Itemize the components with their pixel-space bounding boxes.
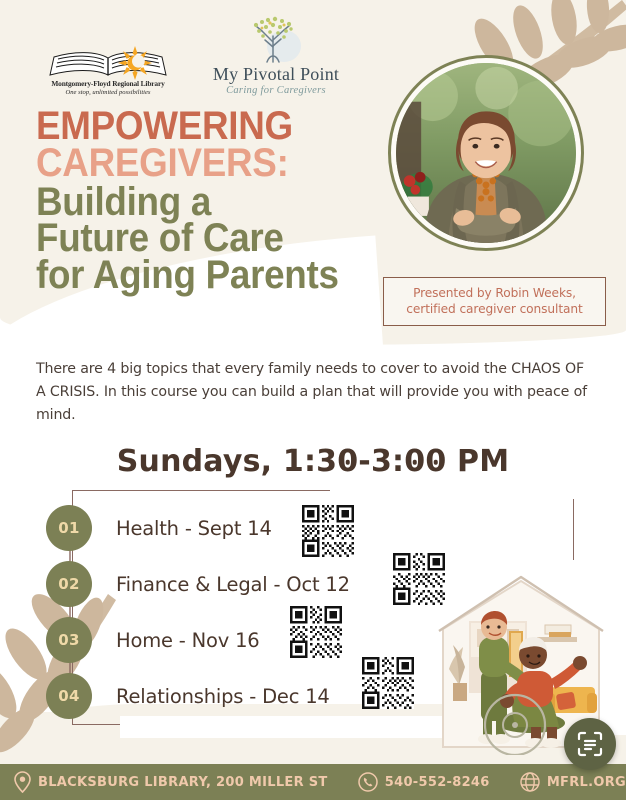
qr-session-04[interactable] — [362, 657, 414, 709]
scan-text-icon — [576, 730, 604, 758]
session-label-3: Home - Nov 16 — [116, 629, 260, 652]
scan-fab-button[interactable] — [564, 718, 616, 770]
footer-bar: BLACKSBURG LIBRARY, 200 MILLER ST 540-55… — [0, 764, 626, 800]
frame-mask-top — [330, 483, 580, 499]
schedule-heading-suffix: PM — [446, 444, 509, 479]
poster-canvas: Montgomery-Floyd Regional Library One st… — [0, 0, 626, 800]
headline-line-4: Future of Care — [36, 220, 349, 257]
session-badge-1: 01 — [46, 505, 92, 551]
map-pin-icon — [14, 771, 31, 793]
footer-location[interactable]: BLACKSBURG LIBRARY, 200 MILLER ST — [14, 771, 328, 793]
tree-icon — [240, 16, 312, 64]
logo-row: Montgomery-Floyd Regional Library One st… — [0, 16, 390, 96]
session-label-4: Relationships - Dec 14 — [116, 685, 330, 708]
schedule-heading-mid: -3: — [358, 444, 404, 479]
presenter-credit-box: Presented by Robin Weeks, certified care… — [383, 277, 606, 326]
session-number-3: 03 — [58, 631, 79, 649]
sun-icon — [118, 46, 152, 80]
footer-phone[interactable]: 540-552-8246 — [358, 772, 490, 792]
library-tagline: One stop, unlimited possibilities — [44, 89, 172, 96]
footer-location-text: BLACKSBURG LIBRARY, 200 MILLER ST — [38, 775, 328, 790]
session-badge-3: 03 — [46, 617, 92, 663]
presenter-portrait-frame — [388, 55, 584, 251]
globe-icon — [520, 772, 540, 792]
session-number-1: 01 — [58, 519, 79, 537]
phone-icon — [358, 772, 378, 792]
session-number-2: 02 — [58, 575, 79, 593]
description-text: There are 4 big topics that every family… — [36, 358, 596, 427]
schedule-zero-2: 0 — [404, 444, 425, 479]
session-label-2: Finance & Legal - Oct 12 — [116, 573, 350, 596]
session-label-1: Health - Sept 14 — [116, 517, 272, 540]
headline-line-3: Building a — [36, 184, 349, 221]
presenter-portrait — [396, 63, 576, 243]
session-row-1[interactable]: 01 Health - Sept 14 — [46, 500, 446, 556]
pivotal-point-logo: My Pivotal Point Caring for Caregivers — [206, 16, 346, 96]
presenter-line-2: certified caregiver consultant — [392, 301, 597, 317]
schedule-zero-3: 0 — [425, 444, 446, 479]
headline-line-5: for Aging Parents — [36, 257, 349, 294]
headline-line-2: CAREGIVERS: — [36, 145, 349, 182]
page-title: EMPOWERING CAREGIVERS: Building a Future… — [36, 108, 376, 294]
footer-website-text: MFRL.ORG — [547, 775, 626, 790]
presenter-line-1: Presented by Robin Weeks, — [392, 285, 597, 301]
session-badge-2: 02 — [46, 561, 92, 607]
pivotal-point-tagline: Caring for Caregivers — [206, 85, 346, 96]
session-number-4: 04 — [58, 687, 79, 705]
footer-website[interactable]: MFRL.ORG — [520, 772, 626, 792]
qr-session-03[interactable] — [290, 606, 342, 658]
library-logo: Montgomery-Floyd Regional Library One st… — [44, 50, 172, 96]
session-badge-4: 04 — [46, 673, 92, 719]
headline-line-1: EMPOWERING — [36, 108, 349, 145]
footer-phone-text: 540-552-8246 — [385, 775, 490, 790]
portrait-illustration — [396, 63, 576, 243]
pivotal-point-name: My Pivotal Point — [206, 65, 346, 84]
qr-session-01[interactable] — [302, 505, 354, 557]
session-row-2[interactable]: 02 Finance & Legal - Oct 12 — [46, 556, 446, 612]
library-name: Montgomery-Floyd Regional Library — [44, 79, 172, 88]
schedule-heading: Sundays, 1:30-3:00 PM — [0, 444, 626, 479]
schedule-heading-prefix: Sundays, 1:3 — [117, 444, 338, 479]
schedule-zero-1: 0 — [337, 444, 358, 479]
